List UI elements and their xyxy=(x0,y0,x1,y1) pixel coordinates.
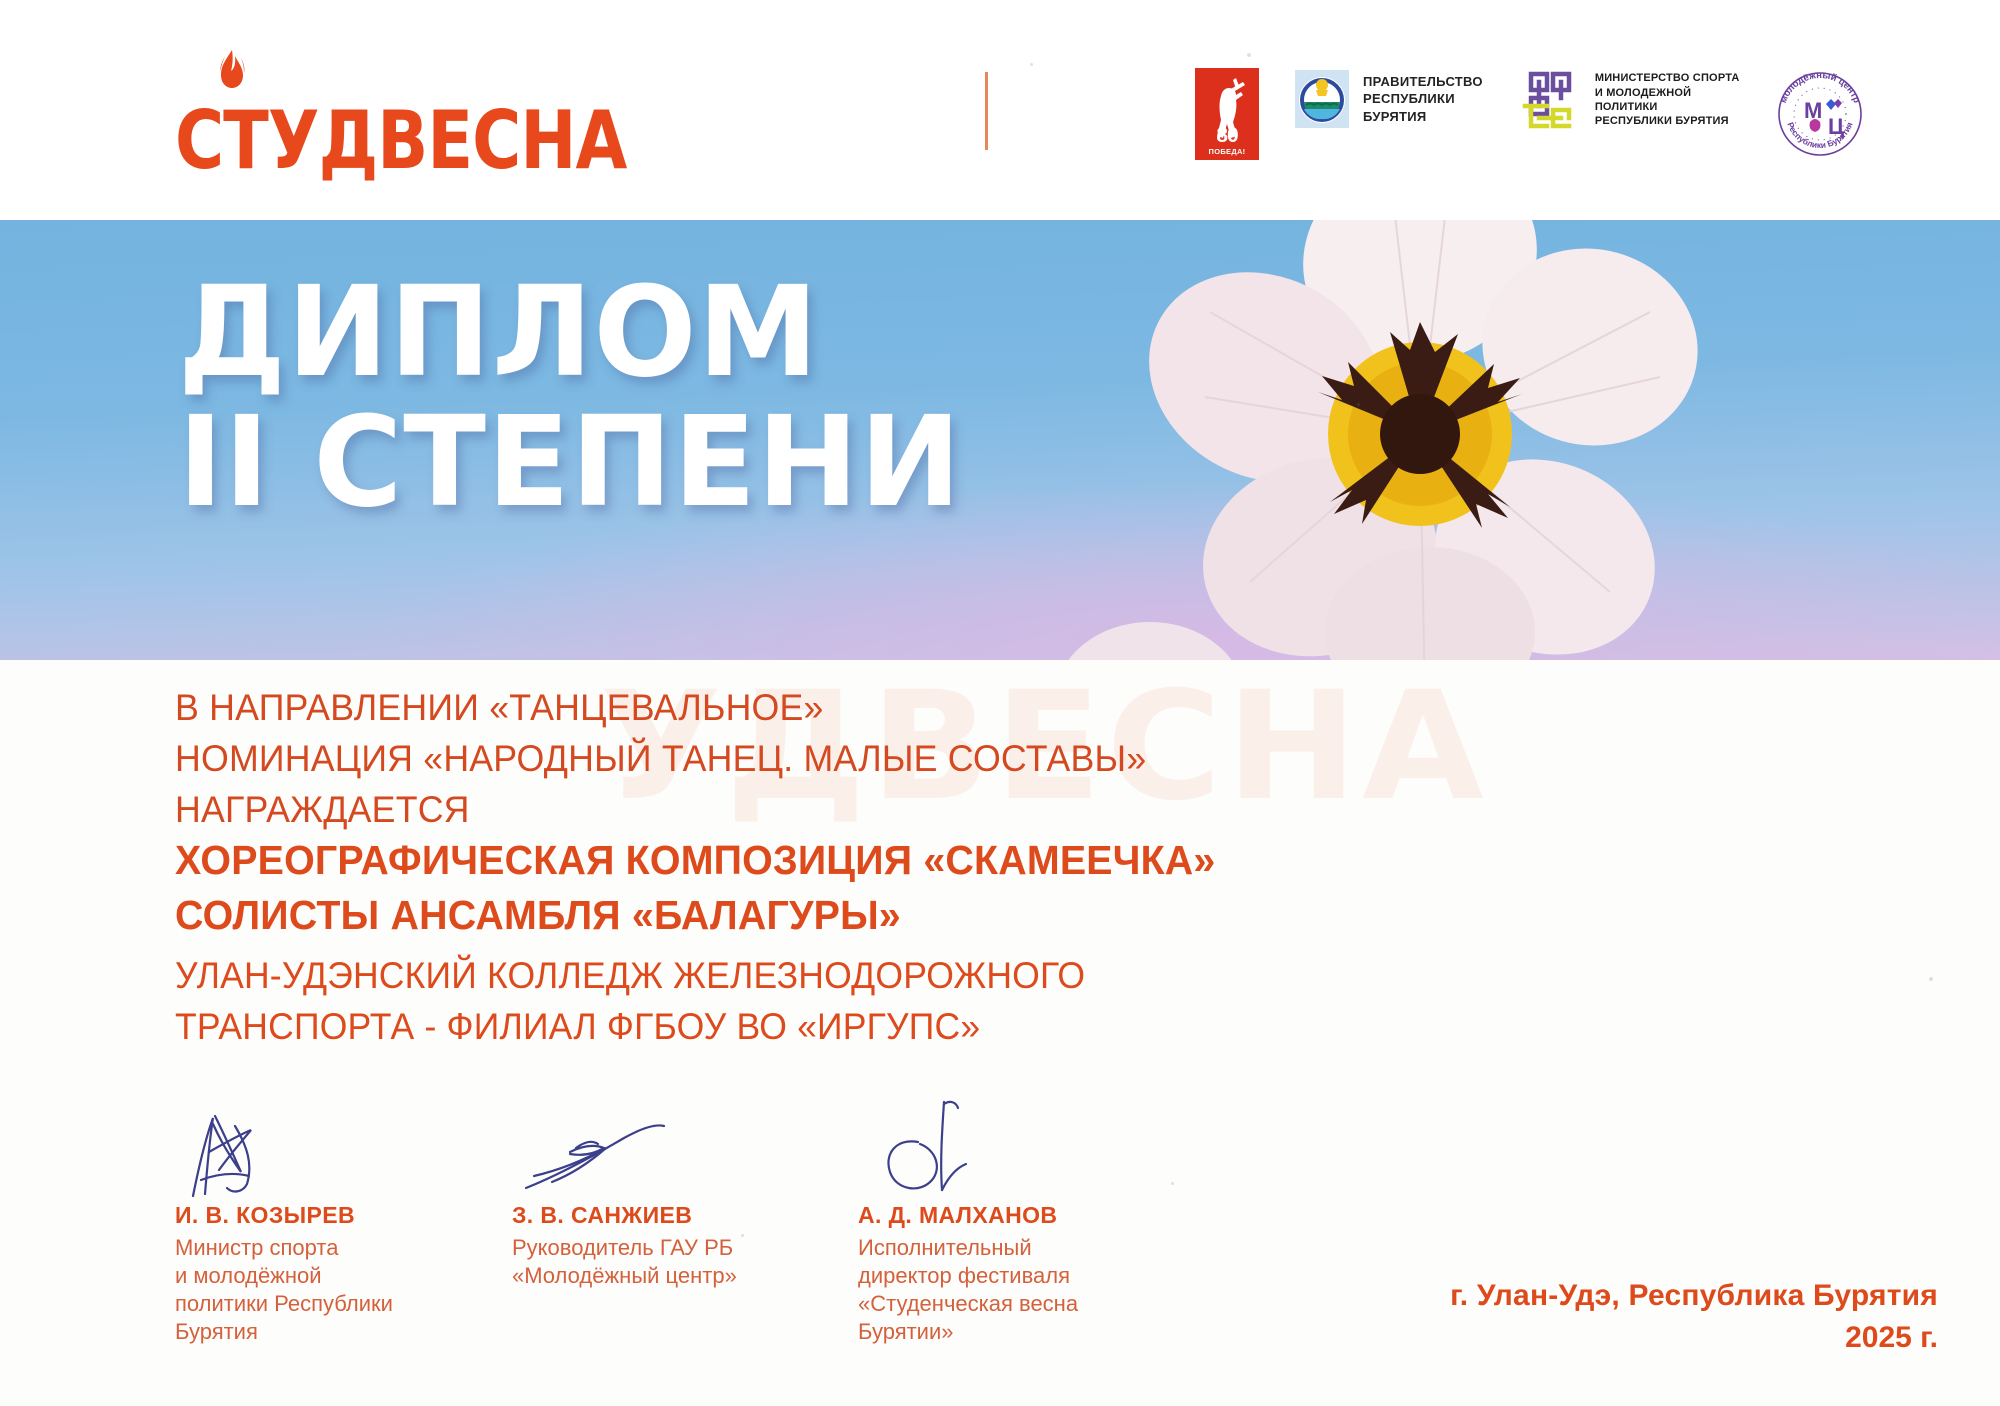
place-city: г. Улан-Удэ, Республика Бурятия xyxy=(1450,1279,1938,1313)
handwritten-signature-malkhanov xyxy=(858,1092,1158,1202)
ministry-logo: МИНИСТЕРСТВО СПОРТА И МОЛОДЕЖНОЙ ПОЛИТИК… xyxy=(1517,68,1740,132)
handwritten-signature-sanzhiev xyxy=(512,1092,812,1202)
scan-speck xyxy=(1929,977,1933,981)
intro-nomination: НОМИНАЦИЯ «НАРОДНЫЙ ТАНЕЦ. МАЛЫЕ СОСТАВЫ… xyxy=(175,733,1146,784)
cosmos-flower-photo xyxy=(1090,220,1710,660)
ministry-line-2: И МОЛОДЕЖНОЙ xyxy=(1595,86,1740,100)
signatory-role-malkhanov: Исполнительный директор фестиваля «Студе… xyxy=(858,1234,1158,1347)
signatory-name-sanzhiev: З. В. САНЖИЕВ xyxy=(512,1202,812,1229)
signatory-kozyrev: И. В. КОЗЫРЕВ Министр спорта и молодёжно… xyxy=(175,1092,475,1347)
scan-speck xyxy=(1171,1182,1174,1185)
organization-line-2: ТРАНСПОРТА - ФИЛИАЛ ФГБОУ ВО «ИРГУПС» xyxy=(175,1001,1085,1052)
scan-speck xyxy=(1247,53,1251,57)
handwritten-signature-kozyrev xyxy=(175,1092,475,1202)
scan-speck xyxy=(1030,63,1033,66)
victory-number: 80 xyxy=(1216,125,1237,160)
diploma-page: СТУДВЕСНА 80 ПОБЕДА! xyxy=(0,0,2000,1406)
partner-logos: 80 ПОБЕДА! ПРАВИТЕЛЬСТВО РЕСПУБЛИКИ xyxy=(1195,68,1866,160)
government-logo: ПРАВИТЕЛЬСТВО РЕСПУБЛИКИ БУРЯТИЯ xyxy=(1293,68,1483,130)
banner-background: ДИПЛОМ II СТЕПЕНИ xyxy=(0,220,2000,660)
victory-80-logo: 80 ПОБЕДА! xyxy=(1195,68,1259,160)
place-and-date: г. Улан-Удэ, Республика Бурятия 2025 г. xyxy=(1450,1279,1938,1355)
intro-direction: В НАПРАВЛЕНИИ «ТАНЦЕВАЛЬНОЕ» xyxy=(175,682,1146,733)
gov-line-2: РЕСПУБЛИКИ xyxy=(1363,90,1483,107)
diploma-title: ДИПЛОМ II СТЕПЕНИ xyxy=(178,268,986,528)
signatory-malkhanov: А. Д. МАЛХАНОВ Исполнительный директор ф… xyxy=(858,1092,1158,1347)
gov-line-3: БУРЯТИЯ xyxy=(1363,108,1483,125)
signatory-role-sanzhiev: Руководитель ГАУ РБ «Молодёжный центр» xyxy=(512,1234,812,1290)
signatory-name-kozyrev: И. В. КОЗЫРЕВ xyxy=(175,1202,475,1229)
title-line-degree: II СТЕПЕНИ xyxy=(178,398,962,528)
brand-name: СТУДВЕСНА xyxy=(175,104,626,178)
youth-center-round-stamp-icon: молодёжный центр Республики Бурятия М Ц xyxy=(1774,68,1866,160)
svg-text:Ц: Ц xyxy=(1828,114,1844,139)
recipient-line-2: СОЛИСТЫ АНСАМБЛЯ «БАЛАГУРЫ» xyxy=(175,888,1216,943)
header: СТУДВЕСНА 80 ПОБЕДА! xyxy=(0,0,2000,220)
place-year: 2025 г. xyxy=(1450,1321,1938,1355)
signatory-name-malkhanov: А. Д. МАЛХАНОВ xyxy=(858,1202,1158,1229)
scan-speck xyxy=(741,1234,744,1237)
svg-text:М: М xyxy=(1804,98,1822,123)
buryatia-coat-of-arms-icon xyxy=(1293,68,1351,130)
award-recipient: ХОРЕОГРАФИЧЕСКАЯ КОМПОЗИЦИЯ «СКАМЕЕЧКА» … xyxy=(175,833,1259,942)
ministry-line-4: РЕСПУБЛИКИ БУРЯТИЯ xyxy=(1595,114,1740,128)
buryat-knot-ornament-icon xyxy=(1517,68,1583,132)
scan-speck xyxy=(1357,403,1360,406)
ministry-line-3: ПОЛИТИКИ xyxy=(1595,100,1740,114)
header-divider xyxy=(985,72,988,150)
ministry-line-1: МИНИСТЕРСТВО СПОРТА xyxy=(1595,71,1740,85)
signatory-sanzhiev: З. В. САНЖИЕВ Руководитель ГАУ РБ «Молод… xyxy=(512,1092,812,1290)
title-line-diplom: ДИПЛОМ xyxy=(178,268,962,398)
studvesna-logo: СТУДВЕСНА xyxy=(175,48,660,178)
award-intro: В НАПРАВЛЕНИИ «ТАНЦЕВАЛЬНОЕ» НОМИНАЦИЯ «… xyxy=(175,682,1182,835)
signatory-role-kozyrev: Министр спорта и молодёжной политики Рес… xyxy=(175,1234,475,1347)
ministry-logo-text: МИНИСТЕРСТВО СПОРТА И МОЛОДЕЖНОЙ ПОЛИТИК… xyxy=(1595,71,1740,128)
organization-line-1: УЛАН-УДЭНСКИЙ КОЛЛЕДЖ ЖЕЛЕЗНОДОРОЖНОГО xyxy=(175,950,1085,1001)
intro-awarded: НАГРАЖДАЕТСЯ xyxy=(175,784,1146,835)
diploma-banner: ДИПЛОМ II СТЕПЕНИ xyxy=(0,220,2000,660)
award-organization: УЛАН-УДЭНСКИЙ КОЛЛЕДЖ ЖЕЛЕЗНОДОРОЖНОГО Т… xyxy=(175,950,1123,1052)
government-logo-text: ПРАВИТЕЛЬСТВО РЕСПУБЛИКИ БУРЯТИЯ xyxy=(1363,73,1483,125)
recipient-line-1: ХОРЕОГРАФИЧЕСКАЯ КОМПОЗИЦИЯ «СКАМЕЕЧКА» xyxy=(175,833,1216,888)
gov-line-1: ПРАВИТЕЛЬСТВО xyxy=(1363,73,1483,90)
